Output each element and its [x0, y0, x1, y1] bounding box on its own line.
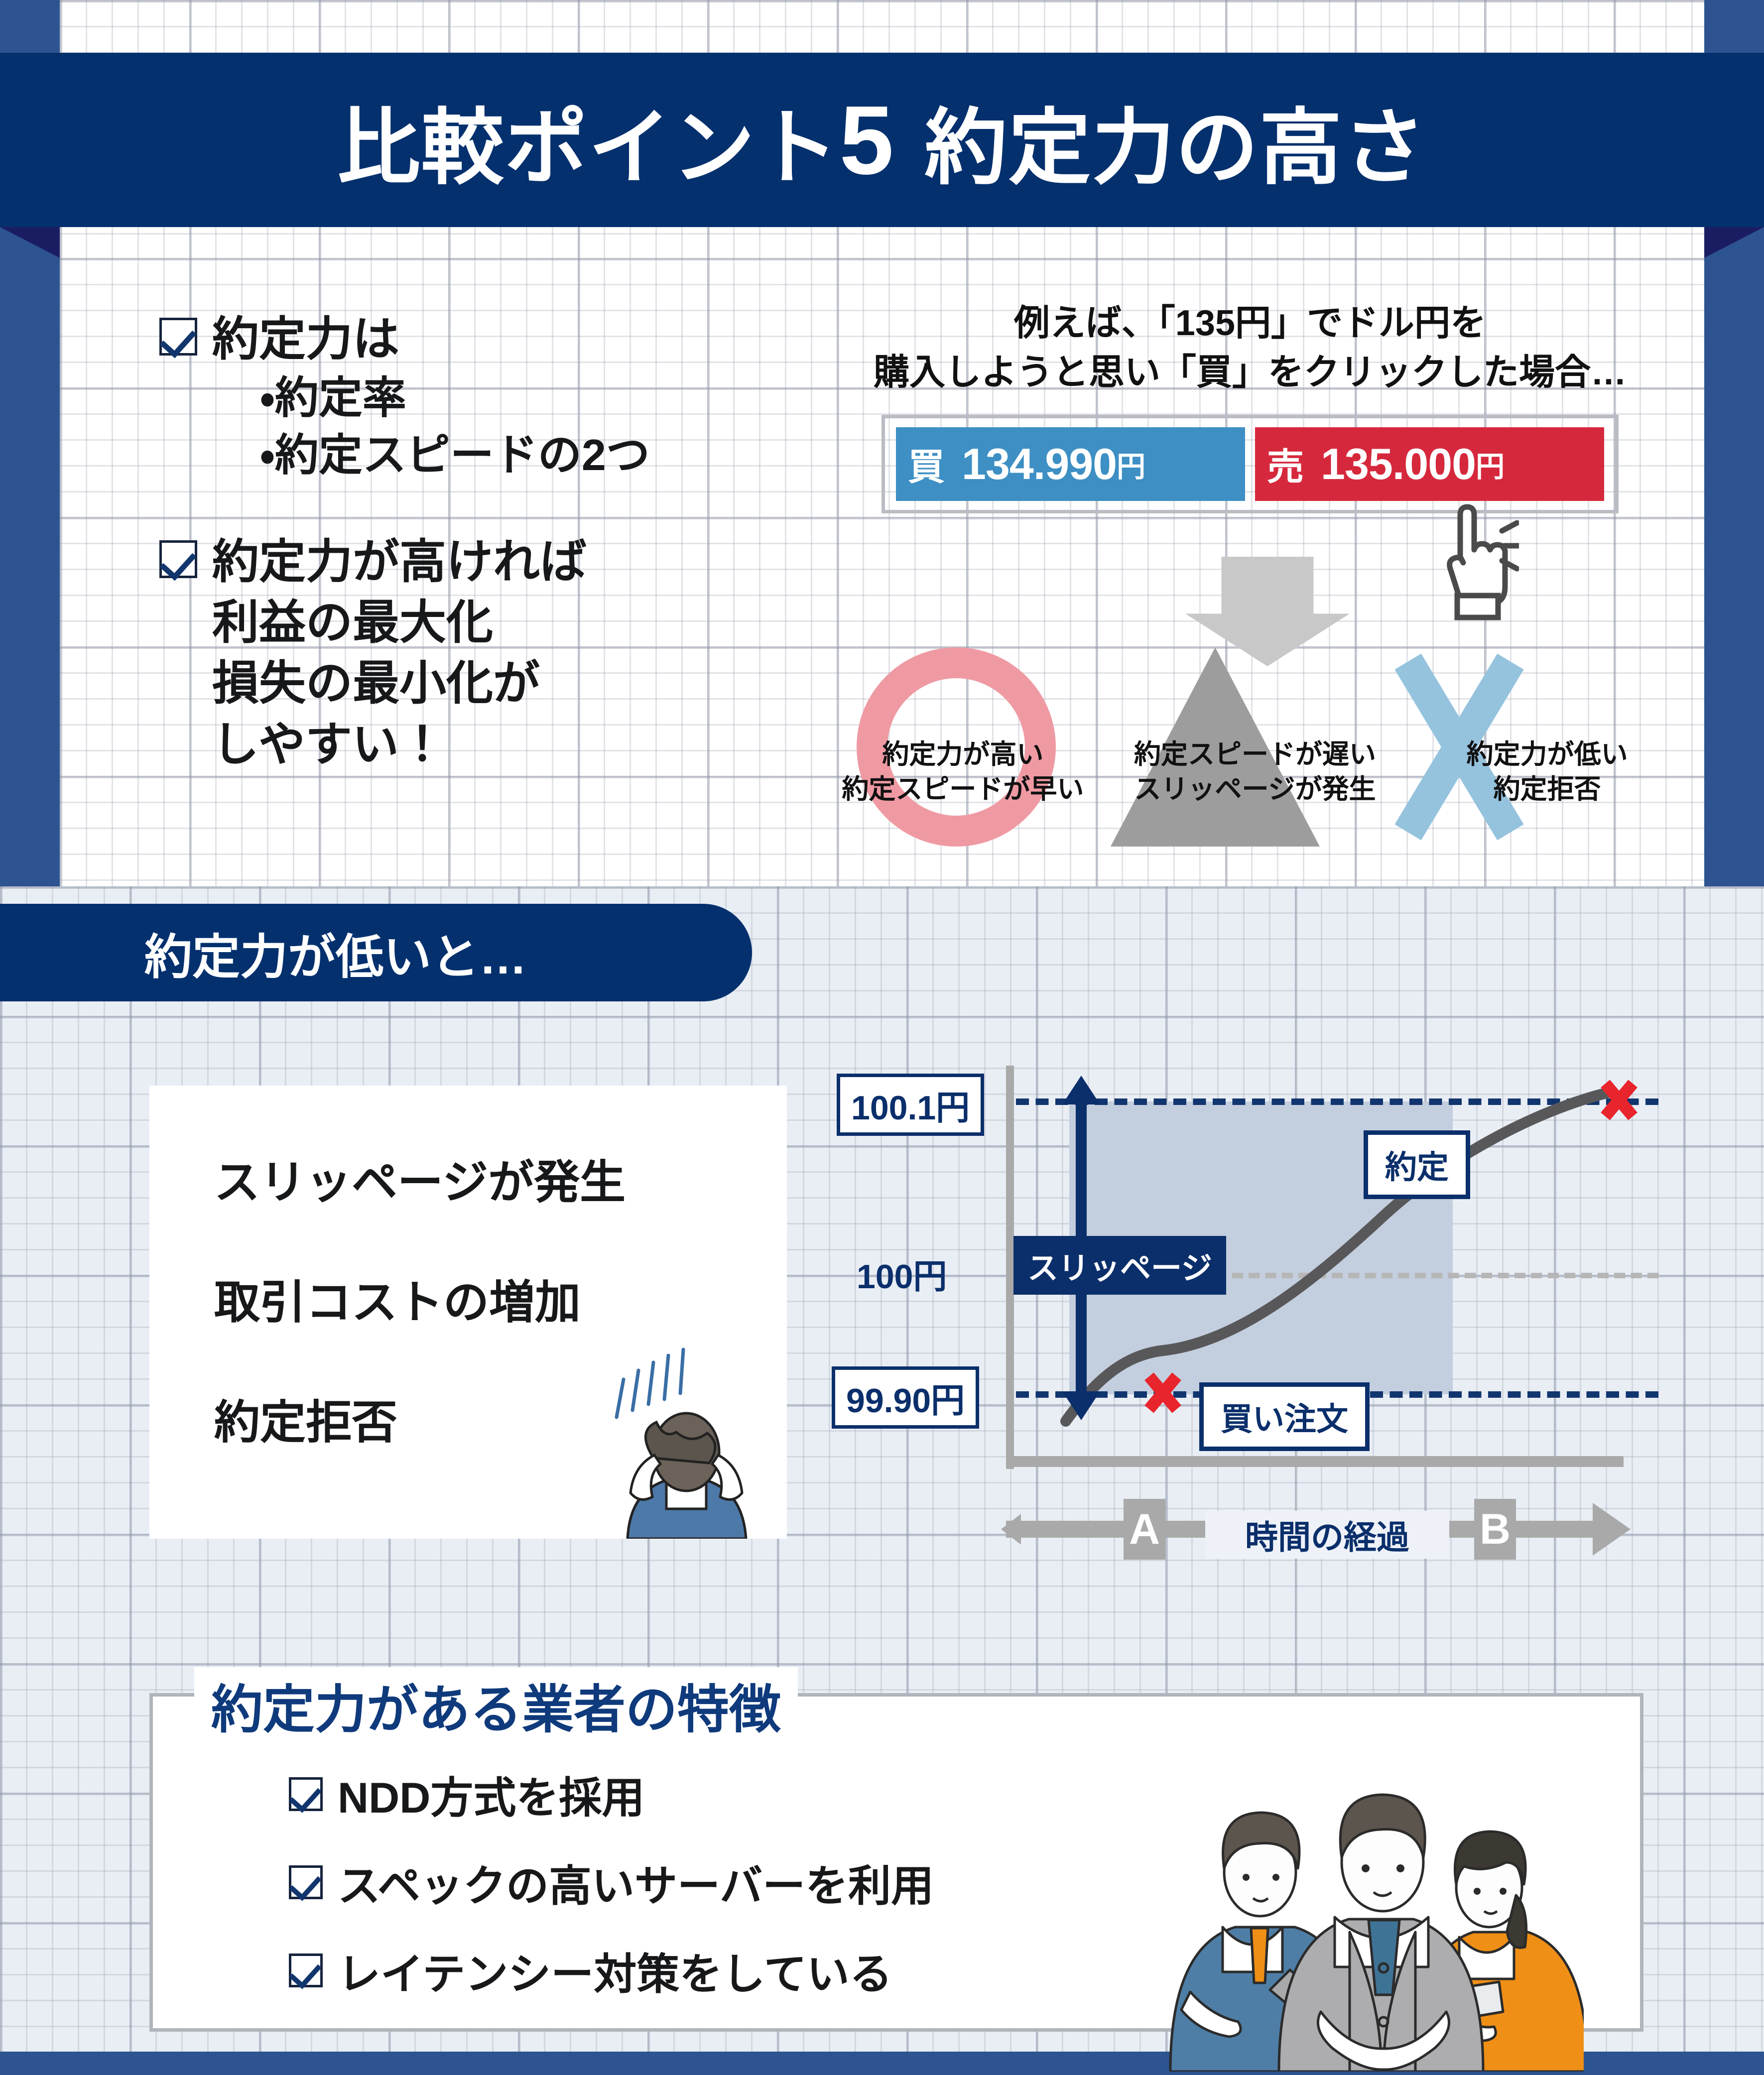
section-banner-label: 約定力が低いと… — [144, 918, 527, 987]
infographic-page: 比較ポイント 5 約定力の高さ 約定力は ・約定率 ・約定スピードの2つ 約定力… — [0, 0, 1764, 2075]
symbol-good-line-2: 約定スピードが早い — [817, 772, 1109, 807]
symbol-bad-line-1: 約定力が低い — [1401, 737, 1693, 772]
chart-x-axis — [1006, 1456, 1624, 1467]
checkbox-checked-icon — [159, 318, 197, 356]
broker-feature-label-3: レイテンシー対策をしている — [338, 1939, 892, 2001]
consequence-item-1: スリッページが発生 — [214, 1145, 626, 1212]
symbol-label-caution: 約定スピードが遅い スリッページが発生 — [1109, 737, 1401, 807]
symbol-label-row: 約定力が高い 約定スピードが早い 約定スピードが遅い スリッページが発生 約定力… — [817, 737, 1693, 807]
time-axis-label: 時間の経過 — [1205, 1511, 1449, 1559]
symbol-bad-line-2: 約定拒否 — [1401, 772, 1693, 807]
time-axis-tail-arrow-icon — [1001, 1514, 1021, 1545]
checkbox-checked-icon — [159, 540, 197, 578]
symbol-good-line-1: 約定力が高い — [817, 737, 1109, 772]
buy-side-label: 買 — [908, 437, 945, 490]
pointing-hand-cursor-icon — [1434, 498, 1519, 622]
page-title-number: 5 — [839, 84, 894, 196]
buy-price-value: 134.990 — [962, 439, 1117, 489]
slippage-chart: 100.1円 100円 99.90円 スリッページ 約定 買い注文 A B 時間… — [827, 1061, 1663, 1559]
quote-caption-line-2: 購入しようと思い「買」をクリックした場合… — [837, 348, 1663, 397]
time-marker-a: A — [1124, 1499, 1165, 1560]
checklist-item-1-sub-1: ・約定率 — [260, 369, 650, 426]
consequence-item-2: 取引コストの増加 — [214, 1265, 626, 1332]
consequence-item-3: 約定拒否 — [214, 1385, 626, 1452]
page-title-main: 比較ポイント — [337, 80, 839, 200]
checklist-item-2-sub-3: しやすい！ — [212, 714, 587, 775]
broker-feature-label-2: スペックの高いサーバーを利用 — [338, 1851, 934, 1913]
quote-demo: 例えば、「135円」でドル円を 購入しようと思い「買」をクリックした場合… 買 … — [837, 299, 1663, 513]
quote-caption-line-1: 例えば、「135円」でドル円を — [837, 299, 1663, 348]
buy-order-marker-x-icon — [1141, 1371, 1184, 1414]
chart-y-tick-100: 100円 — [857, 1249, 947, 1298]
symbol-label-good: 約定力が高い 約定スピードが早い — [817, 737, 1109, 807]
execution-marker-x-icon — [1598, 1079, 1640, 1121]
time-marker-b: B — [1474, 1499, 1516, 1560]
feature-checklist: 約定力は ・約定率 ・約定スピードの2つ 約定力が高ければ 利益の最大化 損失の… — [159, 309, 822, 788]
frustrated-person-illustration — [608, 1330, 777, 1539]
broker-feature-item-2: スペックの高いサーバーを利用 — [289, 1851, 934, 1913]
buy-price-button[interactable]: 買 134.990 円 — [896, 427, 1245, 501]
broker-feature-label-1: NDD方式を採用 — [338, 1763, 644, 1825]
consequences-list: スリッページが発生 取引コストの増加 約定拒否 — [214, 1145, 626, 1505]
page-title-sub: 約定力の高さ — [925, 80, 1427, 200]
checklist-item-2: 約定力が高ければ 利益の最大化 損失の最小化が しやすい！ — [159, 531, 822, 775]
symbol-label-bad: 約定力が低い 約定拒否 — [1401, 737, 1693, 807]
checklist-item-2-sub-1: 利益の最大化 — [212, 592, 587, 653]
chart-y-tick-99-90: 99.90円 — [832, 1366, 979, 1429]
symbol-caution-line-2: スリッページが発生 — [1109, 772, 1401, 807]
checkbox-checked-icon — [289, 1777, 323, 1811]
checklist-item-2-sub-2: 損失の最小化が — [212, 653, 587, 714]
header-fold-left — [0, 227, 60, 258]
broker-features-title: 約定力がある業者の特徴 — [194, 1667, 798, 1742]
symbol-caution-line-1: 約定スピードが遅い — [1109, 737, 1401, 772]
slippage-label: スリッページ — [1013, 1236, 1226, 1295]
chart-time-axis: A B 時間の経過 — [1006, 1499, 1629, 1559]
time-axis-head-arrow-icon — [1593, 1503, 1631, 1556]
checkbox-checked-icon — [289, 1953, 323, 1987]
checklist-item-1-sub-2: ・約定スピードの2つ — [260, 427, 650, 484]
chart-y-tick-100-1: 100.1円 — [837, 1074, 984, 1136]
checklist-item-1-label: 約定力は — [212, 309, 650, 369]
sell-price-unit: 円 — [1476, 443, 1505, 485]
checkbox-checked-icon — [289, 1865, 323, 1899]
section-banner-low-execution: 約定力が低いと… — [0, 904, 752, 1001]
checklist-item-2-label: 約定力が高ければ — [212, 531, 587, 592]
consequences-card: スリッページが発生 取引コストの増加 約定拒否 — [149, 1086, 787, 1539]
quote-demo-caption: 例えば、「135円」でドル円を 購入しようと思い「買」をクリックした場合… — [837, 299, 1663, 398]
buy-order-callout: 買い注文 — [1199, 1382, 1370, 1451]
page-title: 比較ポイント 5 約定力の高さ — [0, 53, 1764, 227]
buy-price-unit: 円 — [1117, 443, 1145, 485]
broker-features-list: NDD方式を採用 スペックの高いサーバーを利用 レイテンシー対策をしている — [289, 1763, 934, 2027]
sell-price-value: 135.000 — [1321, 439, 1476, 489]
broker-feature-item-1: NDD方式を採用 — [289, 1763, 934, 1825]
sell-side-label: 売 — [1267, 437, 1304, 490]
sell-price-button[interactable]: 売 135.000 円 — [1255, 427, 1604, 501]
broker-feature-item-3: レイテンシー対策をしている — [289, 1939, 934, 2001]
header-fold-right — [1704, 227, 1764, 258]
business-team-illustration — [1135, 1673, 1584, 2072]
checklist-item-1: 約定力は ・約定率 ・約定スピードの2つ — [159, 309, 822, 484]
execution-callout: 約定 — [1364, 1130, 1470, 1199]
